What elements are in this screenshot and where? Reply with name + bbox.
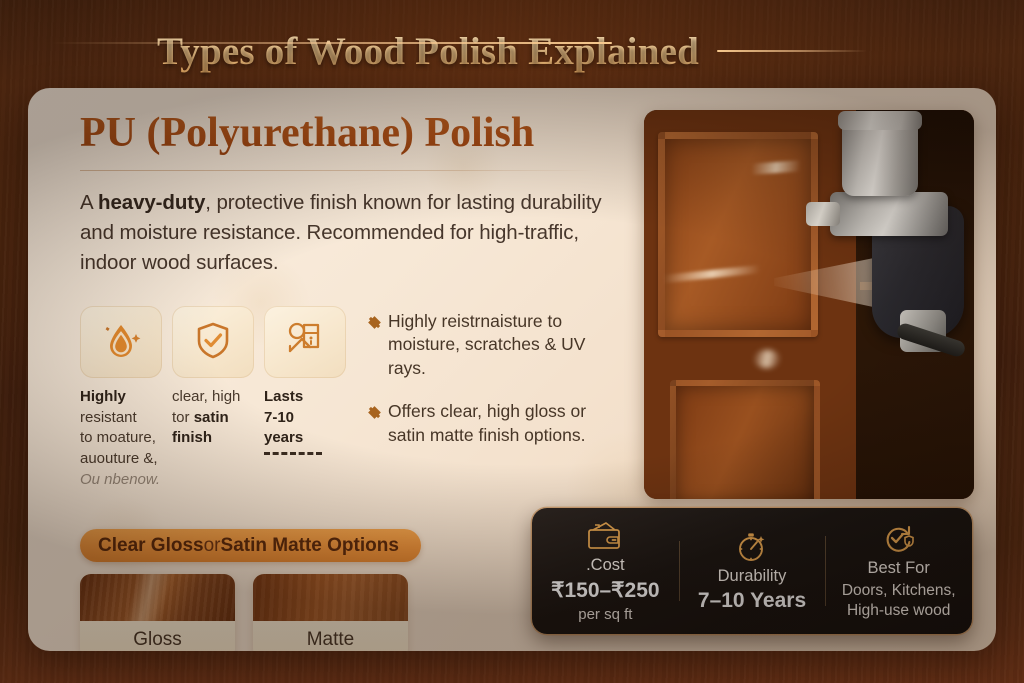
tile-line-3: to moature,: [80, 428, 162, 449]
header: Types of Wood Polish Explained: [0, 20, 1024, 82]
feature-tile: Lasts 7-10 years: [264, 306, 346, 490]
stat-lines: Doors, Kitchens, High-use wood: [842, 581, 956, 620]
list-item: Offers clear, high gloss or satin matte …: [370, 400, 602, 447]
swatch-card-gloss[interactable]: Gloss: [80, 574, 235, 651]
spray-gun-cup-lid: [838, 111, 922, 130]
tile-label: Highly resistant to moature, auouture &,…: [80, 387, 162, 490]
stat-best-for: Best For Doors, Kitchens, High-use wood: [825, 522, 972, 620]
feature-tile: clear, high tor satin finish: [172, 306, 254, 490]
spray-gun-body: [830, 192, 948, 236]
stat-cost: .Cost ₹150–₹250 per sq ft: [532, 519, 679, 623]
calendar-duration-icon: [284, 319, 326, 366]
description-paragraph: A heavy-duty, protective finish known fo…: [80, 188, 620, 278]
badge-text-gloss: Clear Gloss: [98, 535, 204, 557]
badge-text-matte: Satin Matte Options: [221, 535, 399, 557]
stats-panel: .Cost ₹150–₹250 per sq ft: [532, 508, 972, 634]
section-title: PU (Polyurethane) Polish: [80, 110, 640, 156]
tile-line-3: years: [264, 428, 346, 449]
tile-dashed-underline: [264, 452, 322, 455]
bullet-text: Highly reistrnaisture to moisture, scrat…: [388, 310, 602, 380]
bullet-list: Highly reistrnaisture to moisture, scrat…: [370, 306, 602, 490]
spray-gun-nozzle: [806, 202, 840, 226]
tile-line-1: Lasts: [264, 387, 346, 408]
tile-line-2: resistant: [80, 408, 162, 429]
lede-before: A: [80, 191, 98, 214]
stat-label: .Cost: [586, 556, 625, 575]
tile-line-1: Highly: [80, 387, 162, 408]
swatch-label: Matte: [253, 621, 408, 651]
tile-line-1: clear, high: [172, 387, 254, 408]
water-droplet-sparkle-icon: [101, 319, 141, 366]
tile-icon-wrap: [80, 306, 162, 378]
tile-line-3: finish: [172, 428, 254, 449]
tile-label: Lasts 7-10 years: [264, 387, 346, 455]
stopwatch-icon: [736, 530, 768, 564]
lede-bold: heavy-duty: [98, 191, 205, 214]
page-title: Types of Wood Polish Explained: [157, 29, 699, 74]
gloss-wood-sample-image: [80, 574, 235, 621]
wallet-icon: [588, 519, 622, 553]
shield-check-icon: [193, 319, 233, 366]
tile-line-2: tor satin: [172, 408, 254, 429]
bullet-text: Offers clear, high gloss or satin matte …: [388, 400, 602, 447]
content-card: PU (Polyurethane) Polish A heavy-duty, p…: [28, 88, 996, 651]
stat-sub: per sq ft: [578, 606, 632, 623]
stat-value: 7–10 Years: [698, 589, 806, 613]
feature-tile: Highly resistant to moature, auouture &,…: [80, 306, 162, 490]
badge-text-or: or: [204, 535, 221, 557]
tile-line-2-bold: satin: [194, 409, 229, 426]
diamond-bullet-icon: [368, 406, 381, 419]
stat-value: ₹150–₹250: [551, 578, 659, 603]
infographic-stage: Types of Wood Polish Explained PU (Polyu…: [0, 0, 1024, 683]
swatch-label: Gloss: [80, 621, 235, 651]
swatch-group: Gloss Matte: [80, 574, 408, 651]
header-rule-left: [52, 42, 612, 44]
stat-line-1: Doors, Kitchens,: [842, 581, 956, 601]
diamond-bullet-icon: [368, 316, 381, 329]
title-divider: [80, 170, 596, 171]
stat-label: Durability: [718, 567, 787, 586]
feature-row: Highly resistant to moature, auouture &,…: [80, 306, 640, 490]
door-panel-lower: [670, 380, 820, 499]
left-column: PU (Polyurethane) Polish A heavy-duty, p…: [80, 110, 640, 279]
tile-line-5: Ou nbenow.: [80, 470, 162, 491]
tile-line-4: auouture &,: [80, 449, 162, 470]
matte-wood-sample-image: [253, 574, 408, 621]
stat-durability: Durability 7–10 Years: [679, 530, 826, 613]
feature-tiles: Highly resistant to moature, auouture &,…: [80, 306, 346, 490]
tile-line-2: 7-10: [264, 408, 346, 429]
stat-line-2: High-use wood: [847, 601, 950, 621]
spray-gun-photo: [644, 110, 974, 499]
stat-label: Best For: [868, 559, 930, 578]
swatch-card-matte[interactable]: Matte: [253, 574, 408, 651]
tile-icon-wrap: [264, 306, 346, 378]
tile-label: clear, high tor satin finish: [172, 387, 254, 449]
header-rule-right: [717, 50, 867, 52]
list-item: Highly reistrnaisture to moisture, scrat…: [370, 310, 602, 380]
finish-options-badge: Clear Gloss or Satin Matte Options: [80, 529, 421, 562]
refresh-check-icon: [882, 522, 916, 556]
tile-icon-wrap: [172, 306, 254, 378]
gloss-highlight: [754, 350, 780, 368]
